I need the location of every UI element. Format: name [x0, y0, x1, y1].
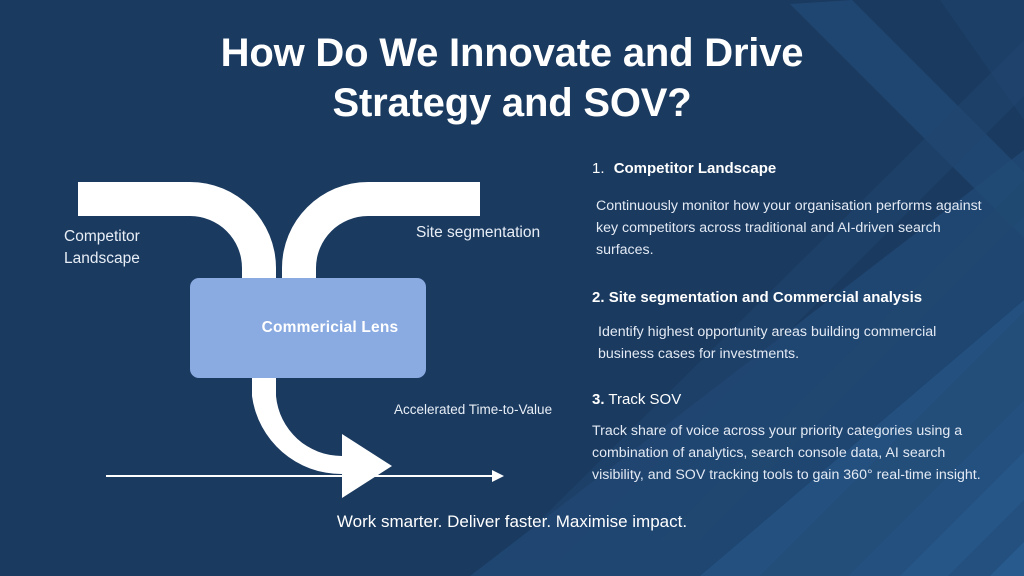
point-heading-2: 2. Site segmentation and Commercial anal…: [592, 287, 992, 310]
point-title-2: Site segmentation and Commercial analysi…: [609, 289, 922, 306]
list-item: 1. Competitor Landscape Continuously mon…: [592, 158, 992, 261]
input-label-competitor-landscape: Competitor Landscape: [64, 226, 214, 271]
lens-box: [190, 278, 426, 378]
title-line-2: Strategy and SOV?: [140, 78, 884, 128]
points-list: 1. Competitor Landscape Continuously mon…: [592, 158, 992, 490]
input-label-site-segmentation: Site segmentation: [416, 222, 576, 244]
funnel-diagram: Commericial Lens Competitor Landscape Si…: [40, 160, 580, 505]
point-heading-3: 3. Track SOV: [592, 389, 992, 412]
point-body-1: Continuously monitor how your organisati…: [592, 195, 992, 261]
list-item: 2. Site segmentation and Commercial anal…: [592, 287, 992, 366]
point-number-2: 2.: [592, 289, 605, 306]
slide: How Do We Innovate and Drive Strategy an…: [0, 0, 1024, 576]
list-item: 3. Track SOV Track share of voice across…: [592, 389, 992, 486]
page-title: How Do We Innovate and Drive Strategy an…: [140, 28, 884, 129]
point-body-2: Identify highest opportunity areas build…: [592, 321, 992, 365]
output-label-accelerated-time-to-value: Accelerated Time-to-Value: [394, 400, 554, 419]
point-heading-1: 1. Competitor Landscape: [592, 158, 992, 181]
point-number-3: 3.: [592, 391, 605, 408]
point-number-1: 1.: [592, 160, 610, 177]
tagline: Work smarter. Deliver faster. Maximise i…: [0, 512, 1024, 532]
title-line-1: How Do We Innovate and Drive: [140, 28, 884, 78]
baseline-arrow-head: [492, 470, 504, 482]
point-body-3: Track share of voice across your priorit…: [592, 420, 992, 486]
point-title-3: Track SOV: [608, 391, 681, 408]
point-title-1: Competitor Landscape: [614, 160, 777, 177]
output-arrow: [252, 370, 392, 498]
